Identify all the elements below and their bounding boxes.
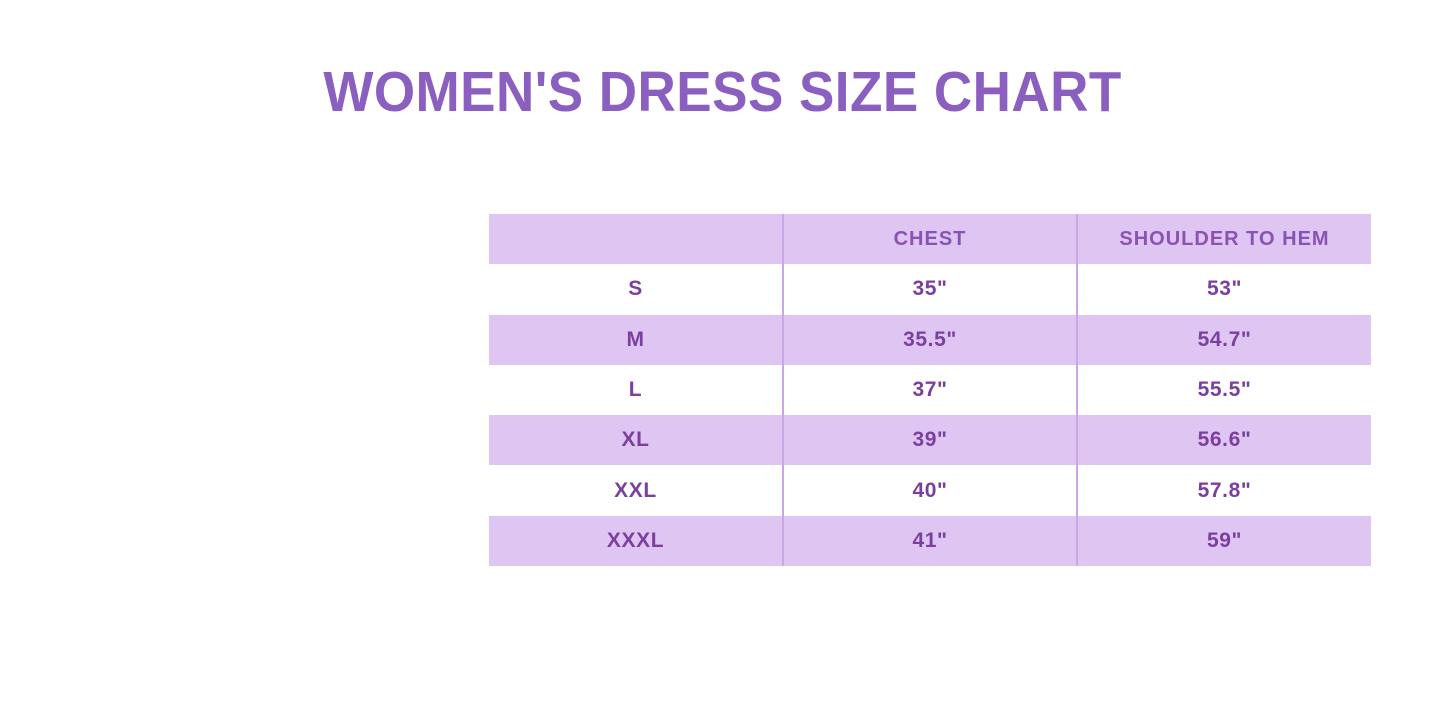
cell-chest: 41" — [783, 516, 1077, 566]
cell-shoulder-to-hem: 54.7" — [1077, 315, 1371, 365]
cell-size: XXL — [489, 465, 783, 515]
cell-chest: 40" — [783, 465, 1077, 515]
cell-size: L — [489, 365, 783, 415]
page-title: WOMEN'S DRESS SIZE CHART — [51, 57, 1395, 127]
cell-chest: 37" — [783, 365, 1077, 415]
table-body: S 35" 53" M 35.5" 54.7" L 37" 55.5" XL 3… — [489, 264, 1371, 566]
cell-size: XXXL — [489, 516, 783, 566]
table-header: CHEST SHOULDER TO HEM — [489, 214, 1371, 264]
cell-shoulder-to-hem: 53" — [1077, 264, 1371, 314]
column-header-shoulder-to-hem: SHOULDER TO HEM — [1077, 214, 1371, 264]
size-chart-table: CHEST SHOULDER TO HEM S 35" 53" M 35.5" … — [489, 214, 1371, 566]
cell-size: M — [489, 315, 783, 365]
cell-size: XL — [489, 415, 783, 465]
cell-shoulder-to-hem: 57.8" — [1077, 465, 1371, 515]
cell-shoulder-to-hem: 59" — [1077, 516, 1371, 566]
cell-chest: 39" — [783, 415, 1077, 465]
table-row: XXXL 41" 59" — [489, 516, 1371, 566]
column-header-chest: CHEST — [783, 214, 1077, 264]
cell-chest: 35" — [783, 264, 1077, 314]
cell-size: S — [489, 264, 783, 314]
cell-shoulder-to-hem: 55.5" — [1077, 365, 1371, 415]
table-row: XXL 40" 57.8" — [489, 465, 1371, 515]
table-row: L 37" 55.5" — [489, 365, 1371, 415]
table-header-row: CHEST SHOULDER TO HEM — [489, 214, 1371, 264]
column-header-size — [489, 214, 783, 264]
table-row: S 35" 53" — [489, 264, 1371, 314]
table-row: M 35.5" 54.7" — [489, 315, 1371, 365]
cell-chest: 35.5" — [783, 315, 1077, 365]
table-row: XL 39" 56.6" — [489, 415, 1371, 465]
cell-shoulder-to-hem: 56.6" — [1077, 415, 1371, 465]
